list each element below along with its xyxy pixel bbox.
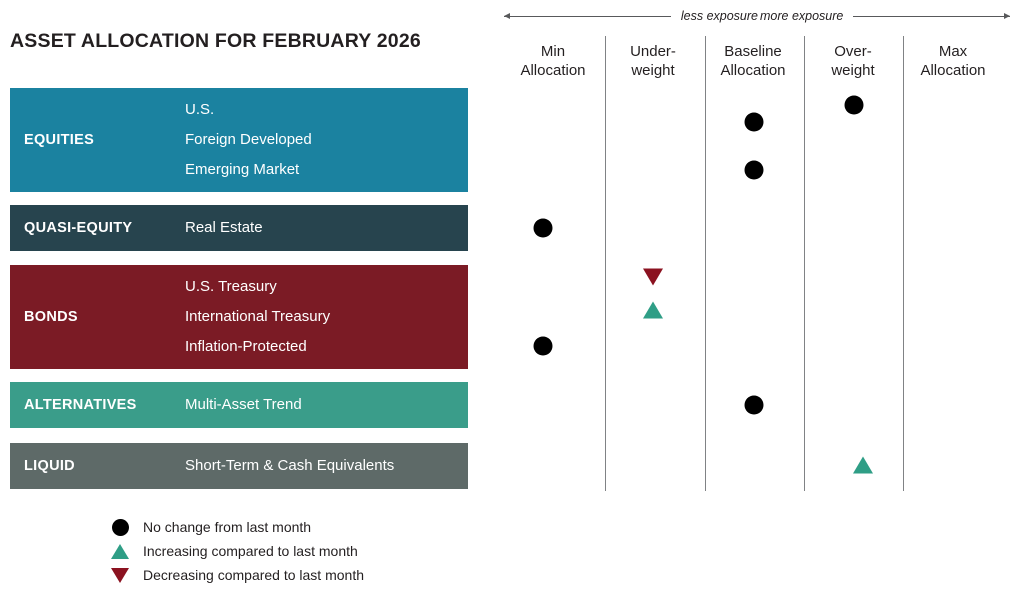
column-header-underweight: Under- weight <box>603 42 703 80</box>
triangle-down-icon <box>105 568 135 583</box>
column-divider <box>804 36 805 491</box>
category-items-bonds: U.S. Treasury International Treasury Inf… <box>185 272 468 362</box>
legend-item-increasing: Increasing compared to last month <box>105 539 525 563</box>
column-header-baseline-allocation: Baseline Allocation <box>703 42 803 80</box>
page-title: ASSET ALLOCATION FOR FEBRUARY 2026 <box>10 30 480 53</box>
category-label-equities: EQUITIES <box>10 132 185 148</box>
circle-icon <box>105 519 135 536</box>
category-label-alternatives: ALTERNATIVES <box>10 397 185 413</box>
category-block-alternatives: ALTERNATIVES Multi-Asset Trend <box>10 382 468 428</box>
category-block-liquid: LIQUID Short-Term & Cash Equivalents <box>10 443 468 489</box>
triangle-up-icon <box>105 544 135 559</box>
less-exposure-indicator: less exposure <box>504 8 758 24</box>
marker-up-short-term-cash <box>853 457 873 474</box>
category-block-quasi-equity: QUASI-EQUITY Real Estate <box>10 205 468 251</box>
list-item: Short-Term & Cash Equivalents <box>185 451 468 481</box>
legend-item-no-change: No change from last month <box>105 515 525 539</box>
column-divider <box>903 36 904 491</box>
marker-dot-inflation-protected <box>534 337 553 356</box>
marker-up-international-treasury <box>643 302 663 319</box>
legend-label: No change from last month <box>143 519 311 535</box>
marker-dot-real-estate <box>534 219 553 238</box>
less-exposure-label: less exposure <box>681 9 758 23</box>
list-item: Foreign Developed <box>185 125 468 155</box>
column-header-min-allocation: Min Allocation <box>503 42 603 80</box>
column-header-overweight: Over- weight <box>803 42 903 80</box>
category-label-liquid: LIQUID <box>10 458 185 474</box>
column-header-max-allocation: Max Allocation <box>903 42 1003 80</box>
category-items-alternatives: Multi-Asset Trend <box>185 390 468 420</box>
legend-label: Increasing compared to last month <box>143 543 358 559</box>
category-label-bonds: BONDS <box>10 309 185 325</box>
category-block-bonds: BONDS U.S. Treasury International Treasu… <box>10 265 468 369</box>
legend: No change from last month Increasing com… <box>105 515 525 587</box>
column-divider <box>705 36 706 491</box>
category-items-equities: U.S. Foreign Developed Emerging Market <box>185 95 468 185</box>
list-item: Multi-Asset Trend <box>185 390 468 420</box>
legend-item-decreasing: Decreasing compared to last month <box>105 563 525 587</box>
allocation-scale-panel: less exposure more exposure Min Allocati… <box>490 0 1025 608</box>
category-items-quasi-equity: Real Estate <box>185 213 468 243</box>
more-exposure-label: more exposure <box>760 9 843 23</box>
list-item: U.S. <box>185 95 468 125</box>
category-label-quasi-equity: QUASI-EQUITY <box>10 220 185 236</box>
category-items-liquid: Short-Term & Cash Equivalents <box>185 451 468 481</box>
list-item: U.S. Treasury <box>185 272 468 302</box>
marker-dot-us-equity <box>845 96 864 115</box>
marker-down-us-treasury <box>643 269 663 286</box>
marker-dot-multi-asset-trend <box>745 396 764 415</box>
category-block-equities: EQUITIES U.S. Foreign Developed Emerging… <box>10 88 468 192</box>
column-divider <box>605 36 606 491</box>
more-exposure-indicator: more exposure <box>760 8 1010 24</box>
list-item: Emerging Market <box>185 155 468 185</box>
marker-dot-emerging-market <box>745 161 764 180</box>
marker-dot-foreign-developed <box>745 113 764 132</box>
legend-label: Decreasing compared to last month <box>143 567 364 583</box>
list-item: Inflation-Protected <box>185 332 468 362</box>
list-item: International Treasury <box>185 302 468 332</box>
left-arrow-icon <box>504 12 671 20</box>
right-arrow-icon <box>853 12 1010 20</box>
list-item: Real Estate <box>185 213 468 243</box>
